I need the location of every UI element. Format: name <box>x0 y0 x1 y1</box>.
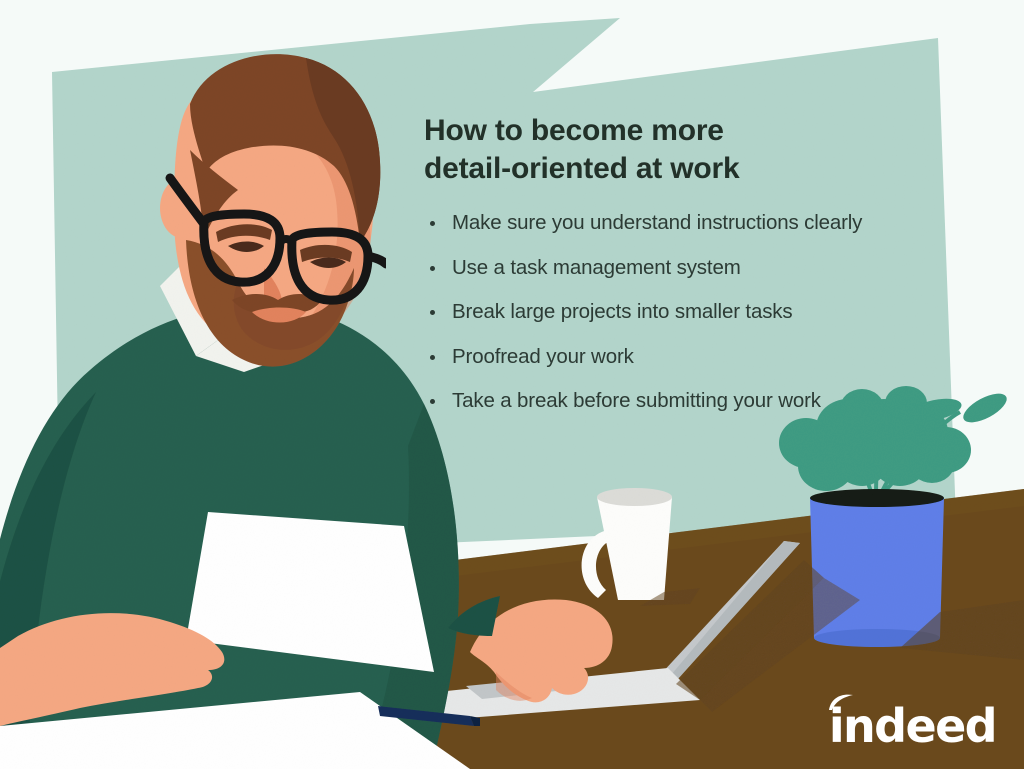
mug-rim <box>597 488 672 506</box>
list-item: Use a task management system <box>424 258 954 279</box>
list-item-label: Take a break before submitting your work <box>452 389 821 412</box>
list-item-label: Use a task management system <box>452 256 741 279</box>
list-item: Break large projects into smaller tasks <box>424 302 954 323</box>
plant-pot <box>810 489 944 647</box>
page-title: How to become more detail-oriented at wo… <box>424 112 954 187</box>
bullet-dot-icon <box>430 221 435 226</box>
indeed-logo: indeed <box>829 703 996 749</box>
bullet-dot-icon <box>430 399 435 404</box>
bullet-dot-icon <box>430 355 435 360</box>
illustration-canvas: How to become more detail-oriented at wo… <box>0 0 1024 769</box>
bullet-dot-icon <box>430 266 435 271</box>
list-item-label: Make sure you understand instructions cl… <box>452 211 862 234</box>
list-item: Make sure you understand instructions cl… <box>424 213 954 234</box>
tips-list: Make sure you understand instructions cl… <box>424 213 954 412</box>
callout-text-block: How to become more detail-oriented at wo… <box>424 112 954 412</box>
list-item-label: Break large projects into smaller tasks <box>452 300 793 323</box>
list-item: Proofread your work <box>424 347 954 368</box>
list-item: Take a break before submitting your work <box>424 391 954 412</box>
bullet-dot-icon <box>430 310 435 315</box>
indeed-wordmark: indeed <box>829 699 996 753</box>
list-item-label: Proofread your work <box>452 345 634 368</box>
